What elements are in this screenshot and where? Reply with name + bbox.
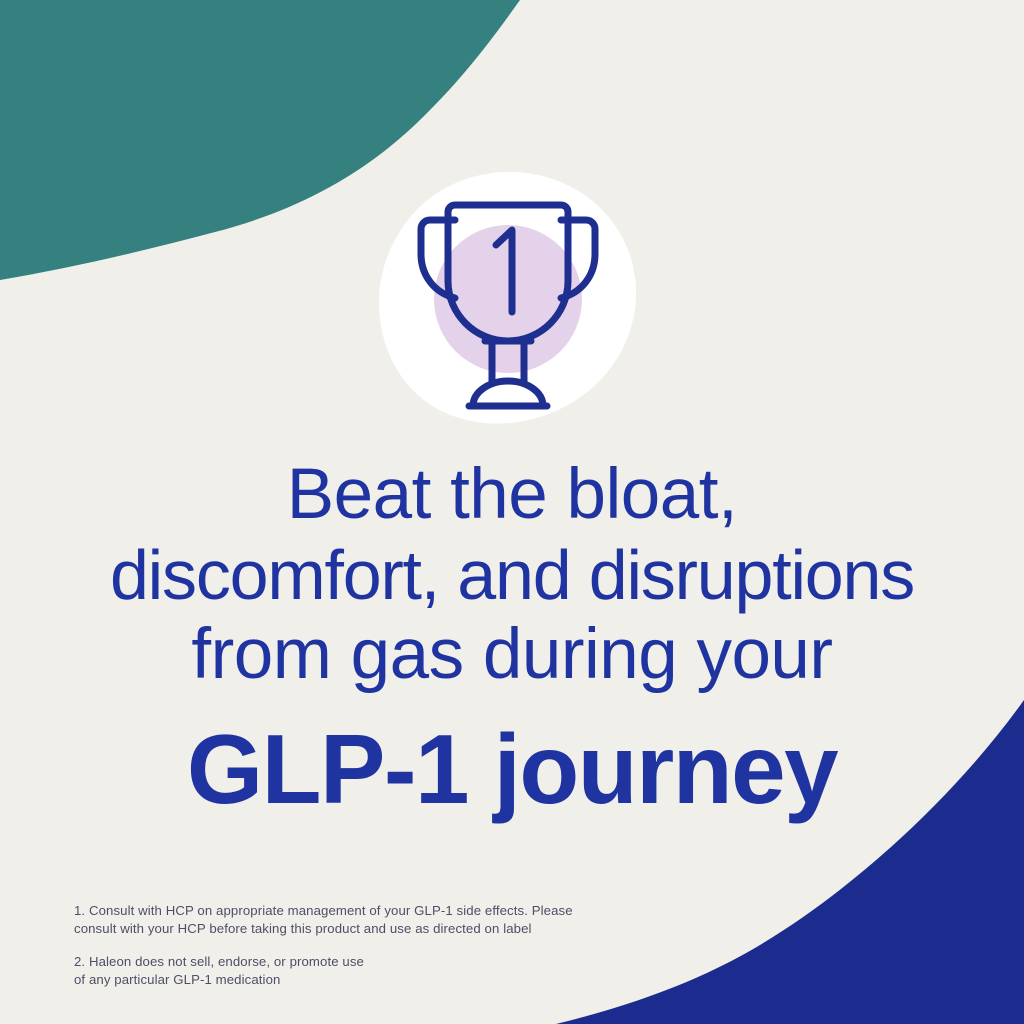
headline-line-1: Beat the bloat, xyxy=(14,455,1010,535)
headline-emphasis: GLP-1 journey xyxy=(14,717,1010,821)
footnotes-block: 1. Consult with HCP on appropriate manag… xyxy=(74,902,614,988)
headline-block: Beat the bloat, discomfort, and disrupti… xyxy=(0,455,1024,821)
social-card: Beat the bloat, discomfort, and disrupti… xyxy=(0,0,1024,1024)
footnote-1: 1. Consult with HCP on appropriate manag… xyxy=(74,902,614,937)
trophy-badge xyxy=(372,168,644,424)
headline-line-2: discomfort, and disruptions xyxy=(14,535,1010,615)
footnote-2: 2. Haleon does not sell, endorse, or pro… xyxy=(74,953,614,988)
headline-line-3: from gas during your xyxy=(14,615,1010,695)
